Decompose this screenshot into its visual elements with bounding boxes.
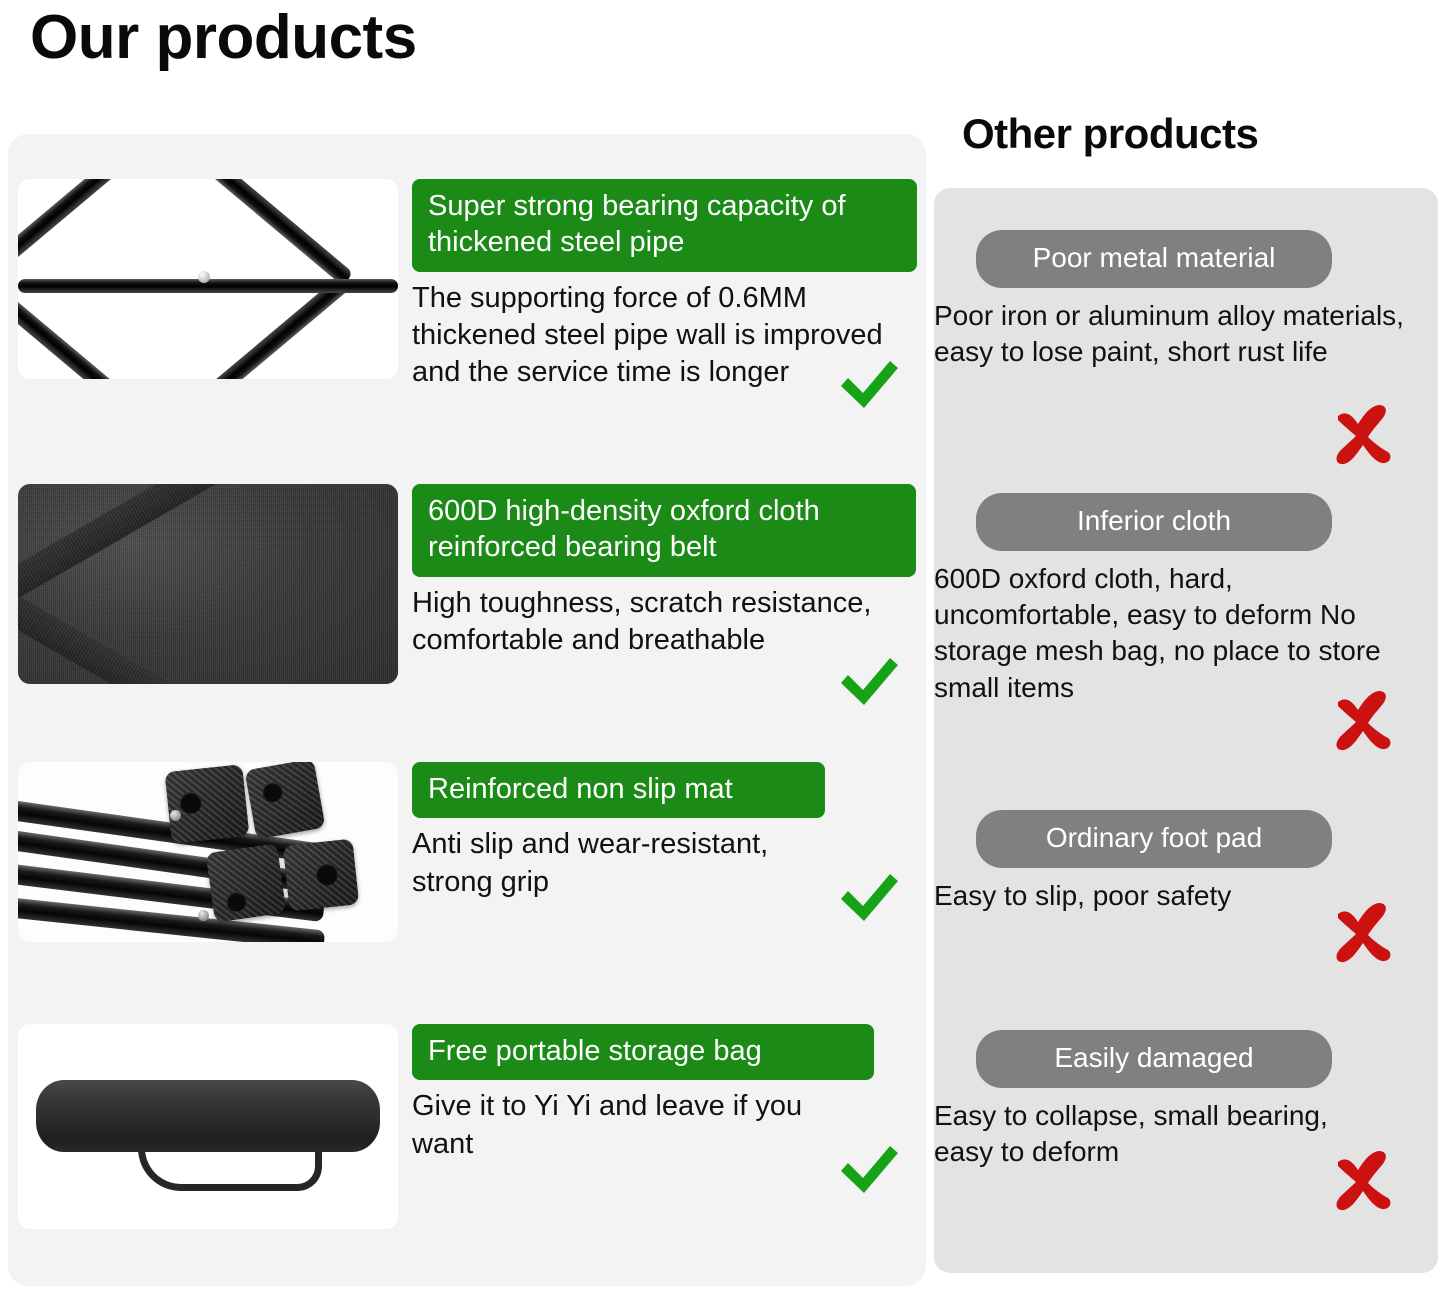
our-product-row-1: Super strong bearing capacity of thicken… (18, 179, 918, 392)
portable-storage-bag-photo (18, 1024, 398, 1229)
red-cross-icon (1330, 1148, 1396, 1214)
green-check-icon (838, 872, 900, 924)
other-product-badge-3: Ordinary foot pad (976, 810, 1332, 868)
thickened-steel-pipe-frame-photo (18, 179, 398, 379)
our-products-panel: Super strong bearing capacity of thicken… (8, 134, 926, 1286)
our-product-description-1: The supporting force of 0.6MM thickened … (412, 280, 912, 392)
our-product-text-3: Reinforced non slip mat Anti slip and we… (398, 762, 918, 901)
other-product-badge-1: Poor metal material (976, 230, 1332, 288)
green-check-icon (838, 359, 900, 411)
oxford-cloth-bearing-belt-photo (18, 484, 398, 684)
our-product-text-4: Free portable storage bag Give it to Yi … (398, 1024, 918, 1163)
other-product-entry-4: Easily damaged Easy to collapse, small b… (976, 1030, 1406, 1170)
other-product-description-2: 600D oxford cloth, hard, uncomfortable, … (934, 561, 1404, 707)
other-product-badge-2: Inferior cloth (976, 493, 1332, 551)
our-product-badge-2: 600D high-density oxford cloth reinforce… (412, 484, 916, 577)
our-product-description-2: High toughness, scratch resistance, comf… (412, 585, 912, 660)
green-check-icon (838, 656, 900, 708)
other-product-badge-4: Easily damaged (976, 1030, 1332, 1088)
our-product-text-2: 600D high-density oxford cloth reinforce… (398, 484, 918, 659)
other-product-description-1: Poor iron or aluminum alloy materials, e… (934, 298, 1404, 371)
red-cross-icon (1330, 402, 1396, 468)
red-cross-icon (1330, 688, 1396, 754)
green-check-icon (838, 1144, 900, 1196)
other-product-entry-2: Inferior cloth 600D oxford cloth, hard, … (976, 493, 1406, 706)
our-product-badge-3: Reinforced non slip mat (412, 762, 825, 818)
our-product-badge-4: Free portable storage bag (412, 1024, 874, 1080)
our-product-description-3: Anti slip and wear-resistant, strong gri… (412, 826, 832, 901)
red-cross-icon (1330, 900, 1396, 966)
our-product-row-4: Free portable storage bag Give it to Yi … (18, 1024, 918, 1229)
our-product-text-1: Super strong bearing capacity of thicken… (398, 179, 918, 392)
our-product-description-4: Give it to Yi Yi and leave if you want (412, 1088, 832, 1163)
our-products-heading: Our products (30, 2, 417, 73)
non-slip-foot-pad-photo (18, 762, 398, 942)
other-product-entry-3: Ordinary foot pad Easy to slip, poor saf… (976, 810, 1406, 914)
other-products-panel: Poor metal material Poor iron or aluminu… (934, 188, 1438, 1273)
other-products-heading: Other products (962, 110, 1258, 158)
our-product-badge-1: Super strong bearing capacity of thicken… (412, 179, 917, 272)
our-product-row-2: 600D high-density oxford cloth reinforce… (18, 484, 918, 684)
our-product-row-3: Reinforced non slip mat Anti slip and we… (18, 762, 918, 942)
other-product-entry-1: Poor metal material Poor iron or aluminu… (976, 230, 1406, 370)
